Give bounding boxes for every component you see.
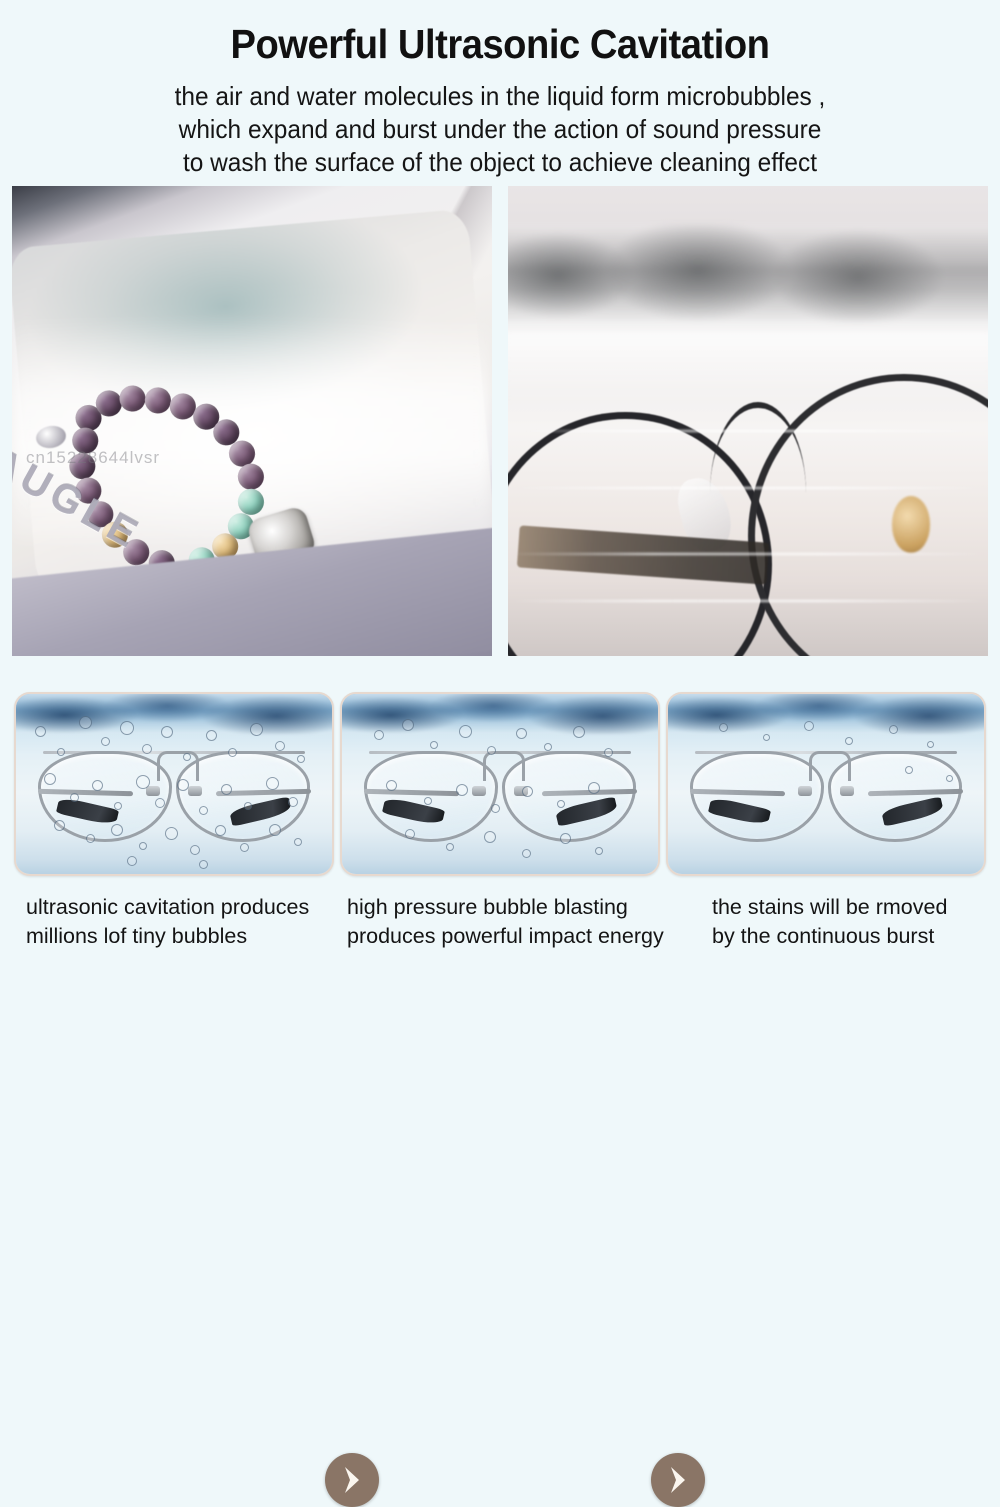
aviator-glasses <box>361 744 639 848</box>
page-title: Powerful Ultrasonic Cavitation <box>35 22 965 67</box>
water-surface <box>340 692 660 734</box>
bubble-foam-layer <box>508 224 988 327</box>
water-background <box>508 186 988 656</box>
caption-line: high pressure bubble blasting <box>347 893 664 922</box>
main-photo-row: AUGLE cn15228644lvsr cn1522864 4lvsr <box>12 186 988 656</box>
water-scene <box>668 694 984 874</box>
step-captions: ultrasonic cavitation produces millions … <box>0 893 1000 963</box>
chevron-right-icon <box>665 1465 691 1495</box>
photo-glasses-closeup: cn15228644lvsr <box>508 186 988 656</box>
ultrasonic-tank: AUGLE <box>12 186 492 656</box>
step-separator-arrow-2 <box>651 1453 705 1507</box>
subtitle-line-2: which expand and burst under the action … <box>30 113 970 146</box>
step-thumbnail-1[interactable] <box>14 692 334 876</box>
caption-line: ultrasonic cavitation produces <box>26 893 309 922</box>
subtitle-line-3: to wash the surface of the object to ach… <box>30 146 970 179</box>
step-thumbnail-2[interactable] <box>340 692 660 876</box>
eyeglass-bridge <box>710 402 806 493</box>
caption-line: by the continuous burst <box>712 922 947 951</box>
aviator-glasses <box>35 744 313 848</box>
aviator-glasses <box>687 744 965 848</box>
step-caption-3: the stains will be rmoved by the continu… <box>712 893 947 950</box>
water-surface <box>666 692 986 734</box>
caption-line: the stains will be rmoved <box>712 893 947 922</box>
step-caption-1: ultrasonic cavitation produces millions … <box>26 893 309 950</box>
water-scene <box>16 694 332 874</box>
water-surface <box>14 692 334 734</box>
photo-bracelet-in-tank: AUGLE cn15228644lvsr cn1522864 4lvsr <box>12 186 492 656</box>
step-caption-2: high pressure bubble blasting produces p… <box>347 893 664 950</box>
product-infographic: Powerful Ultrasonic Cavitation the air a… <box>0 0 1000 1000</box>
chevron-right-icon <box>339 1465 365 1495</box>
step-separator-arrow-1 <box>325 1453 379 1507</box>
amber-highlight <box>892 496 930 552</box>
page-subtitle: the air and water molecules in the liqui… <box>30 80 970 179</box>
caption-line: produces powerful impact energy <box>347 922 664 951</box>
step-thumbnail-3[interactable] <box>666 692 986 876</box>
caption-line: millions lof tiny bubbles <box>26 922 309 951</box>
process-steps <box>14 692 986 872</box>
water-scene <box>342 694 658 874</box>
subtitle-line-1: the air and water molecules in the liqui… <box>30 80 970 113</box>
